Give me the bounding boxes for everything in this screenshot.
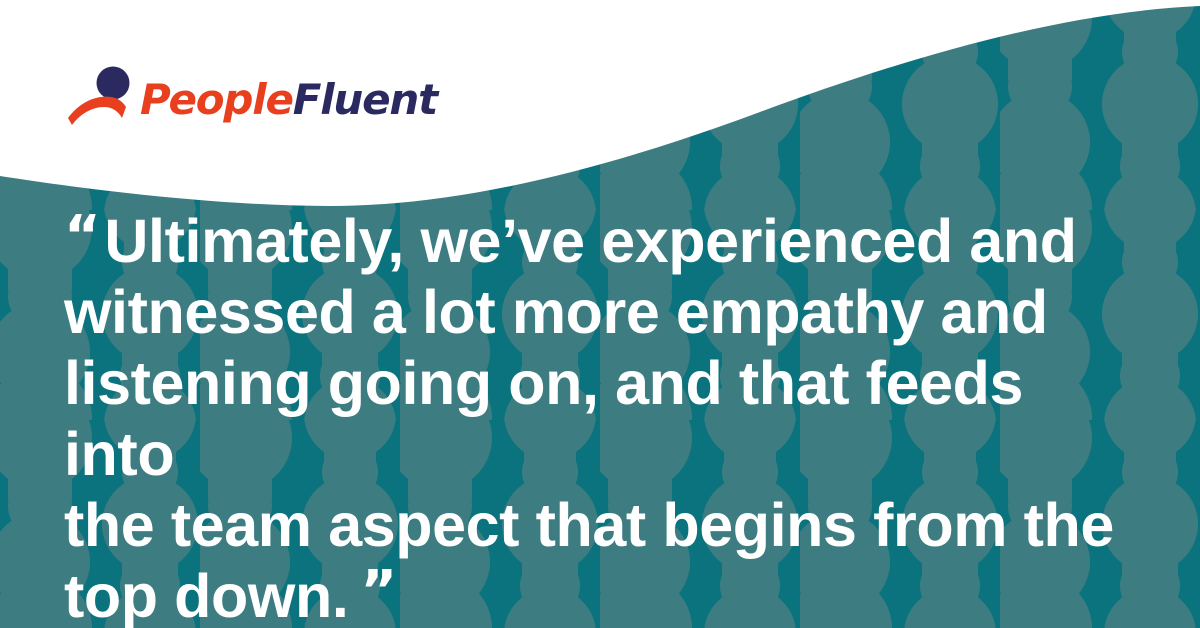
quote-block: “Ultimately, we’ve experienced and witne… xyxy=(64,206,1134,628)
closing-quote-mark: ” xyxy=(360,559,396,624)
logo-word-people: People xyxy=(140,75,293,124)
quote-text: “Ultimately, we’ve experienced and witne… xyxy=(64,206,1134,628)
quote-body: Ultimately, we’ve experienced and witnes… xyxy=(64,207,1114,628)
quote-card: PeopleFluent “Ultimately, we’ve experien… xyxy=(0,0,1200,628)
peoplefluent-person-mark xyxy=(66,66,138,128)
peoplefluent-logo[interactable]: PeopleFluent xyxy=(66,58,437,128)
opening-quote-mark: “ xyxy=(64,204,100,269)
logo-word-fluent: Fluent xyxy=(293,75,437,124)
logo-wordmark: PeopleFluent xyxy=(140,79,437,121)
